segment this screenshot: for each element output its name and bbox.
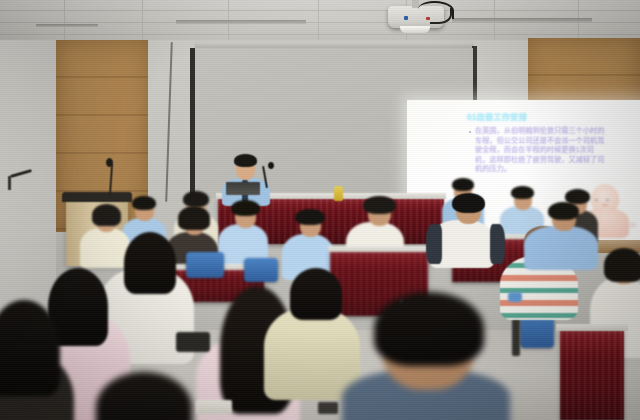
wall-microphone-base <box>8 176 11 190</box>
projector-lens <box>400 26 430 33</box>
open-notebook <box>196 400 232 414</box>
desk-microphone-icon <box>268 162 274 169</box>
attendee-white-sleeve-right <box>490 224 505 264</box>
projector-indicator-icon <box>426 17 430 20</box>
ceiling-light-slot <box>36 24 98 27</box>
attendee-front-white-hair <box>124 232 176 294</box>
desk-top-front-right <box>556 324 628 331</box>
slide-watermark: CD <box>629 223 636 229</box>
lectern-top <box>62 192 132 202</box>
mobile-phone <box>318 402 338 414</box>
presenter-hair <box>234 154 257 167</box>
yellow-bottle <box>334 186 343 201</box>
attendee-front-beige-torso <box>264 308 360 400</box>
slide-body-text: 在英国，从伯明翰到伦敦只需三个小时的车程，但公交公司还是不会派一个司机驾驶全程，… <box>475 126 605 174</box>
ceiling-light-slot <box>452 18 592 22</box>
attendee-white-hair <box>452 193 485 213</box>
attendee-front-beige-hair <box>290 268 342 320</box>
chair-mid-1[interactable] <box>186 252 224 278</box>
handbag <box>176 332 210 352</box>
slide-bullet-icon <box>469 131 471 133</box>
projector-port-icon <box>404 16 408 20</box>
baby-mouth <box>602 204 608 206</box>
water-bottle <box>508 292 522 302</box>
ceiling-light-slot <box>176 20 306 24</box>
left-wall <box>0 40 56 340</box>
attendee-white-sleeve-left <box>426 224 442 264</box>
attendee-front-man-hair <box>374 292 484 366</box>
presenter-laptop <box>226 182 260 195</box>
desk-front-right <box>560 330 624 420</box>
chair-mid-2[interactable] <box>244 258 278 282</box>
desk-top-mid-right <box>328 246 430 252</box>
slide-title: 01改善工作安排 <box>467 112 527 123</box>
microphone-icon <box>106 158 113 167</box>
lecture-hall-photo: 01改善工作安排 在英国，从伯明翰到伦敦只需三个小时的车程，但公交公司还是不会派… <box>0 0 640 420</box>
